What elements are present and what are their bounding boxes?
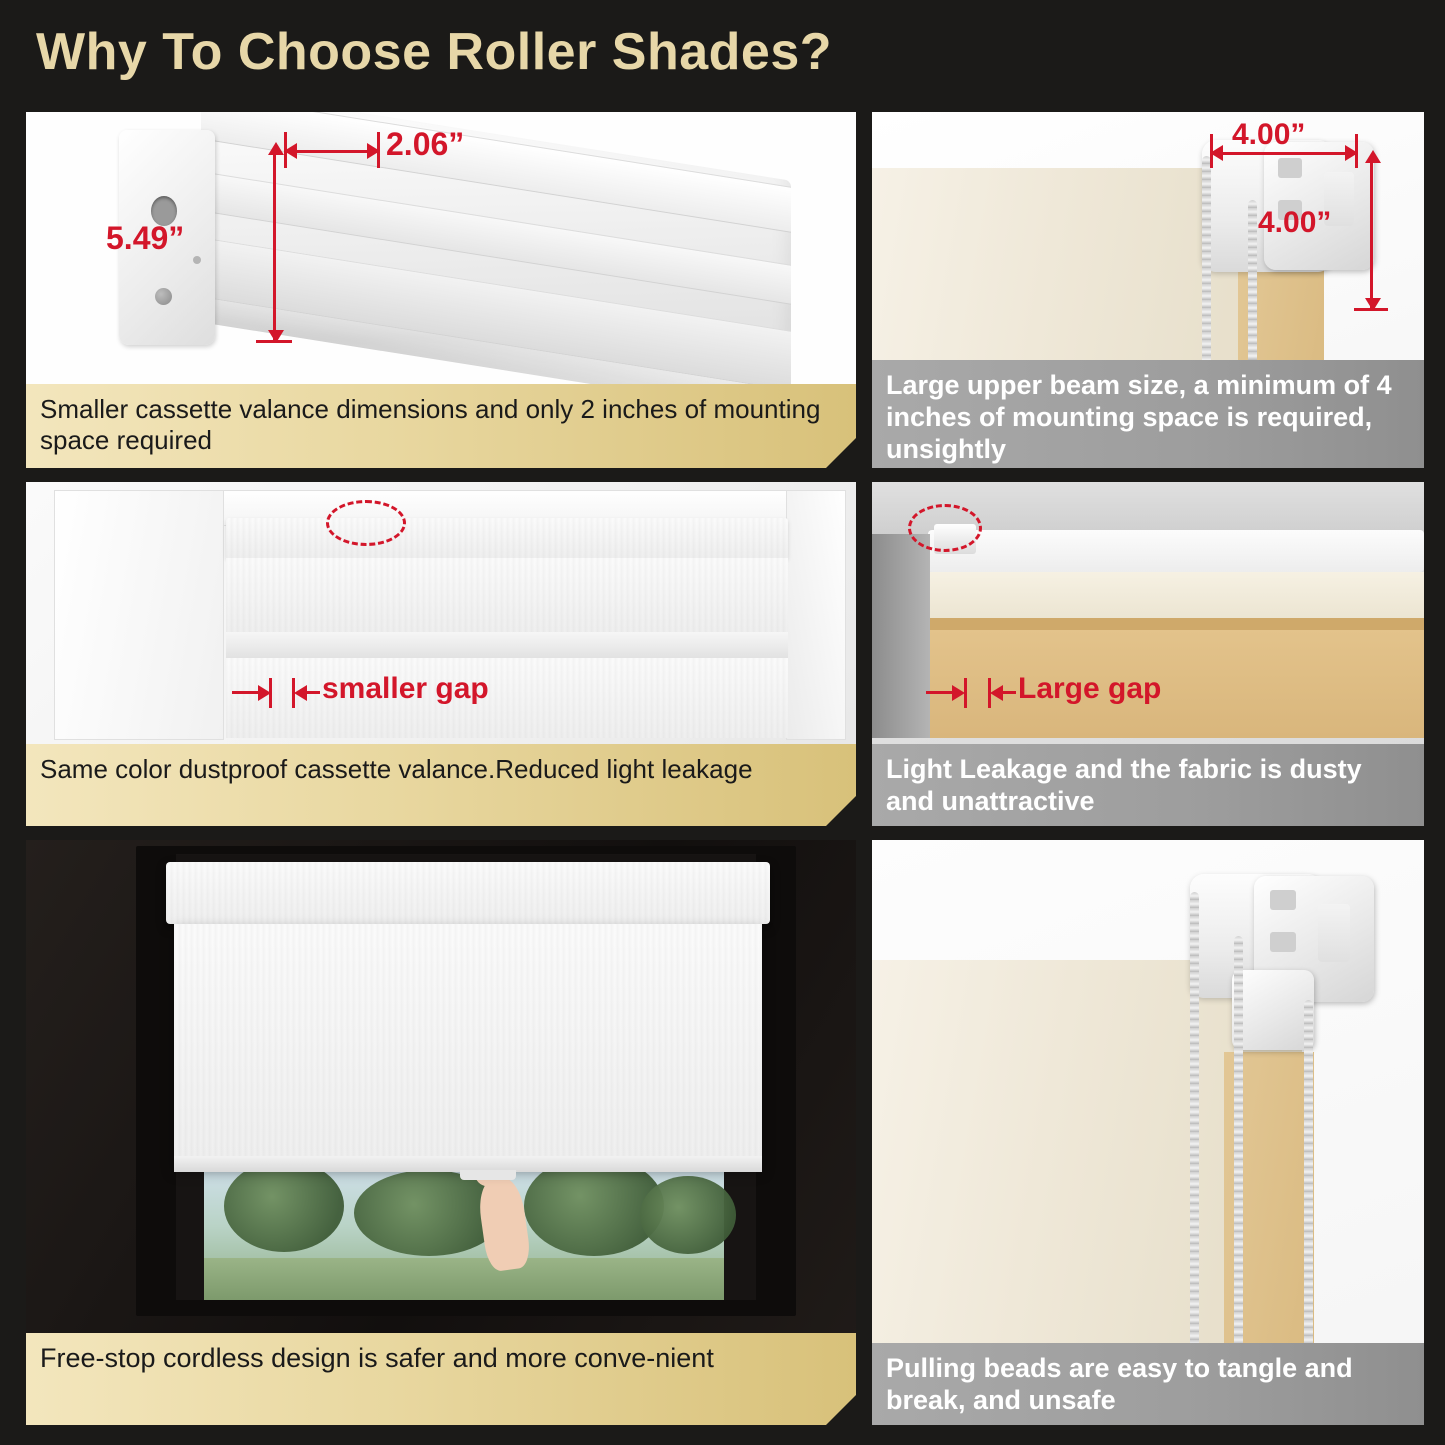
dimension-line-width — [1210, 152, 1358, 155]
shade-fabric-lower — [226, 658, 788, 738]
arrow-left-icon — [990, 685, 1003, 701]
panel-smaller-gap: smaller gap Same color dustproof cassett… — [26, 482, 856, 826]
arrow-up-icon — [268, 142, 284, 155]
wall-shadow — [872, 534, 930, 738]
page-title: Why To Choose Roller Shades? — [36, 22, 832, 82]
panel-pull-beads: Pulling beads are easy to tangle and bre… — [872, 840, 1424, 1425]
shade-fabric — [174, 924, 762, 1166]
panel-cordless: Free-stop cordless design is safer and m… — [26, 840, 856, 1425]
shade-bottom-rail — [226, 632, 788, 658]
highlight-ellipse — [908, 504, 982, 552]
panel-caption: Large upper beam size, a minimum of 4 in… — [872, 360, 1424, 468]
dimension-label-width: 4.00” — [1232, 118, 1305, 152]
arrow-right-icon — [1345, 145, 1358, 161]
gap-label: Large gap — [1018, 672, 1161, 706]
arrow-up-icon — [1365, 150, 1381, 163]
arrow-left-icon — [294, 685, 307, 701]
gap-label: smaller gap — [322, 672, 489, 706]
panel-cassette-dimensions: 2.06” 5.49” Smaller cassette valance dim… — [26, 112, 856, 468]
dimension-tick — [1354, 308, 1388, 311]
window-frame-right — [786, 490, 846, 740]
panel-caption: Smaller cassette valance dimensions and … — [26, 384, 856, 468]
panel-caption: Same color dustproof cassette valance.Re… — [26, 744, 856, 826]
panel-large-gap: Large gap Light Leakage and the fabric i… — [872, 482, 1424, 826]
pull-tab — [460, 1170, 516, 1180]
dimension-line-width — [284, 150, 380, 153]
panel-caption: Free-stop cordless design is safer and m… — [26, 1333, 856, 1425]
roller-tube-cover — [928, 530, 1424, 572]
shade-fabric-upper — [226, 558, 788, 632]
panel-large-beam: 4.00” 4.00” Large upper beam size, a min… — [872, 112, 1424, 468]
window-frame-left — [54, 490, 224, 740]
arrow-right-icon — [952, 685, 965, 701]
dimension-tick — [256, 340, 292, 343]
fabric-cream — [928, 572, 1424, 618]
dimension-label-width: 2.06” — [386, 126, 464, 163]
cassette-valance — [226, 518, 788, 558]
dimension-label-height: 4.00” — [1258, 206, 1331, 240]
dimension-line-height — [1370, 160, 1373, 310]
arrow-right-icon — [258, 685, 271, 701]
outdoor-view — [204, 1166, 724, 1300]
highlight-ellipse — [326, 500, 406, 546]
fabric-tan — [928, 630, 1424, 738]
screw-icon — [155, 288, 172, 305]
pull-beads-photo — [872, 840, 1424, 1425]
arrow-right-icon — [367, 143, 380, 159]
fabric-edge — [928, 618, 1424, 630]
lower-bracket — [1232, 970, 1314, 1050]
dimension-line-height — [273, 152, 276, 342]
panel-caption: Pulling beads are easy to tangle and bre… — [872, 1343, 1424, 1425]
dimension-label-height: 5.49” — [106, 220, 184, 257]
arrow-left-icon — [284, 143, 297, 159]
panel-grid: 2.06” 5.49” Smaller cassette valance dim… — [22, 112, 1422, 1432]
panel-caption: Light Leakage and the fabric is dusty an… — [872, 744, 1424, 826]
cassette-valance — [166, 862, 770, 924]
pin-dot-icon — [193, 256, 201, 264]
product-infographic: Why To Choose Roller Shades? — [0, 0, 1445, 1445]
arrow-left-icon — [1210, 145, 1223, 161]
